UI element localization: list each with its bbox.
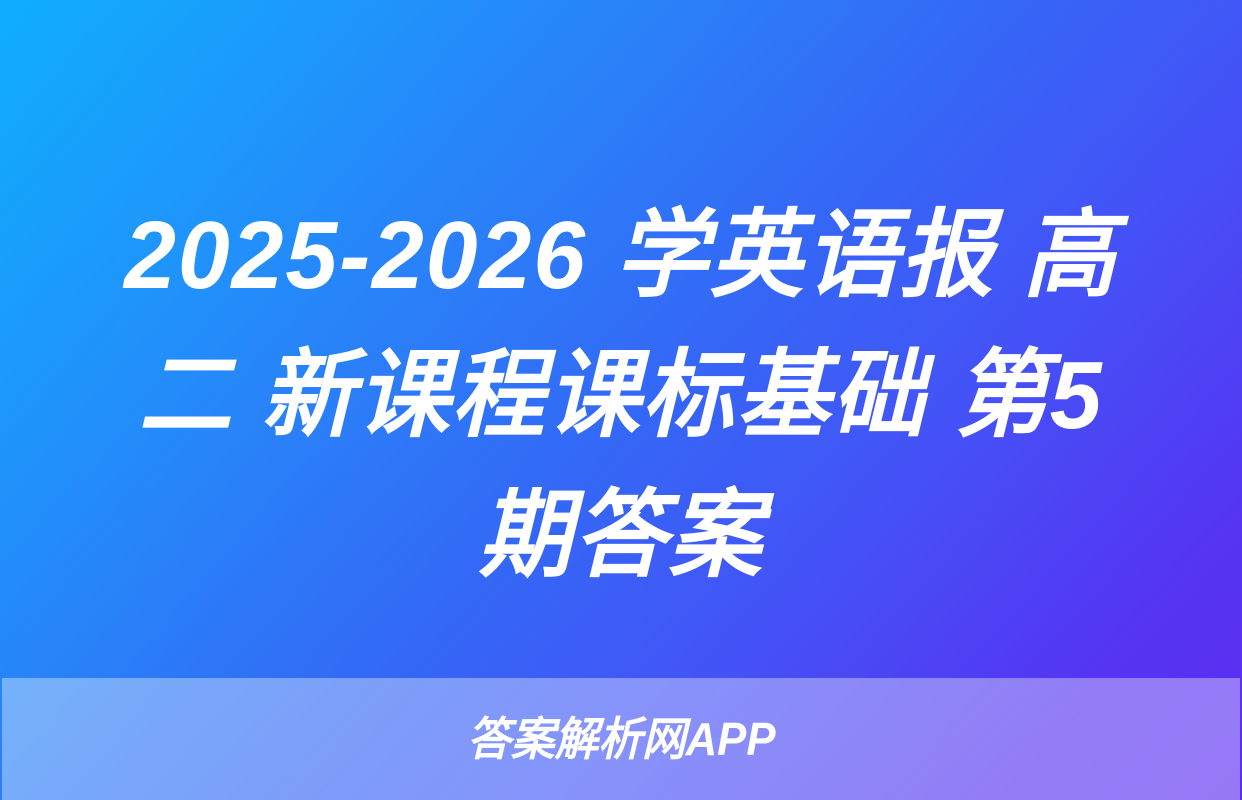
- footer-brand-band: 答案解析网APP: [2, 678, 1240, 800]
- title-line-2: 二 新课程课标基础 第5: [46, 326, 1196, 466]
- page-title: 2025-2026 学英语报 高 二 新课程课标基础 第5 期答案: [0, 186, 1242, 606]
- promo-poster: 2025-2026 学英语报 高 二 新课程课标基础 第5 期答案 答案解析网A…: [0, 0, 1242, 800]
- title-line-1: 2025-2026 学英语报 高: [46, 186, 1196, 326]
- app-brand-label: 答案解析网APP: [467, 714, 775, 764]
- title-line-3: 期答案: [46, 466, 1196, 606]
